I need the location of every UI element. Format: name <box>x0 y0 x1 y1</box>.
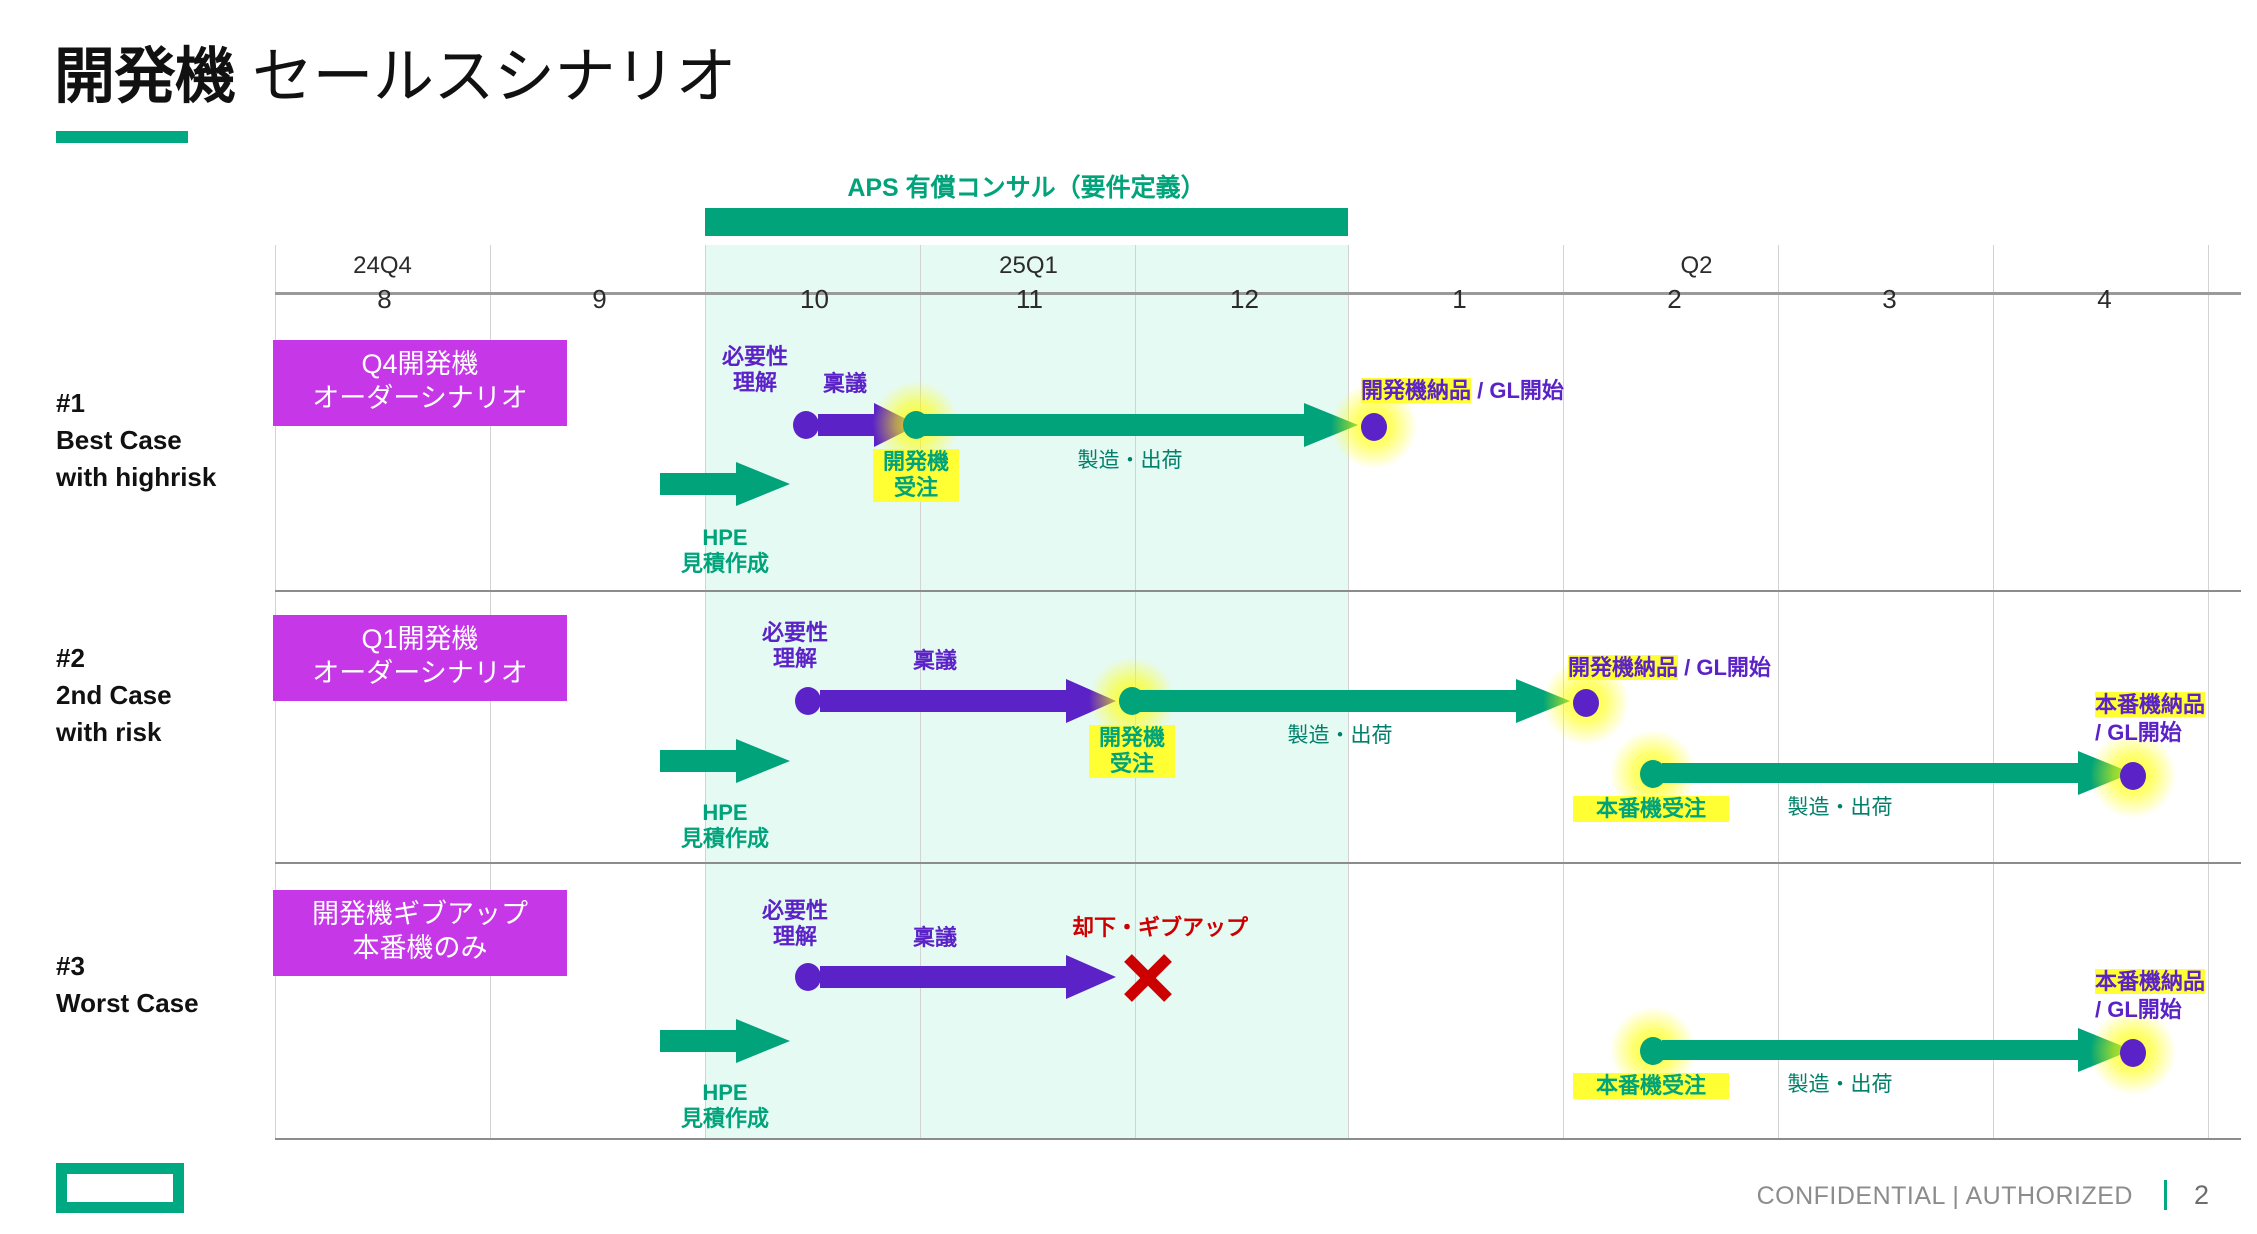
grid-column-line <box>1778 245 1779 1140</box>
quarter-label-q2: Q2 <box>1574 252 1819 280</box>
month-label-1: 1 <box>1337 284 1582 315</box>
row-caption-1: #1 Best Case with highrisk <box>56 385 216 496</box>
row-divider <box>275 862 2241 864</box>
milestone-dot-prod-delivery-2 <box>2120 762 2146 790</box>
label-ringi-3: 稟議 <box>880 925 990 951</box>
page-number: 2 <box>2194 1180 2209 1211</box>
month-label-12: 12 <box>1122 284 1367 315</box>
arrow-manufacture-1 <box>924 414 1358 436</box>
label-delivery-2: 開発機納品 / GL開始 <box>1568 650 1771 682</box>
label-prod-order-3: 本番機受注 <box>1573 1073 1729 1099</box>
label-prod-delivery-2-rest: / GL開始 <box>2095 720 2182 745</box>
label-reject-3: 却下・ギブアップ <box>1040 915 1280 941</box>
milestone-dot-necessity-3 <box>795 963 821 991</box>
reject-x-icon <box>1120 950 1176 1006</box>
label-ringi-2: 稟議 <box>880 648 990 674</box>
milestone-dot-necessity-1 <box>793 411 819 439</box>
label-hpe-quote-2: HPE 見積作成 <box>660 800 790 853</box>
arrow-prod-manufacture-2 <box>1662 763 2132 783</box>
label-manufacture-1: 製造・出荷 <box>1020 448 1240 473</box>
row-caption-3: #3 Worst Case <box>56 948 199 1022</box>
label-delivery-1-highlight: 開発機納品 <box>1361 378 1471 403</box>
confidentiality-notice: CONFIDENTIAL | AUTHORIZED <box>1757 1182 2133 1211</box>
milestone-dot-necessity-2 <box>795 687 821 715</box>
label-prod-manufacture-2: 製造・出荷 <box>1720 795 1960 820</box>
label-order-2: 開発機 受注 <box>1089 725 1175 778</box>
label-hpe-quote-1: HPE 見積作成 <box>660 525 790 578</box>
label-hpe-quote-3: HPE 見積作成 <box>660 1080 790 1133</box>
scenario-chip-2: Q1開発機 オーダーシナリオ <box>273 615 567 701</box>
arrow-hpe-quote-2 <box>660 750 790 772</box>
page-title-rest: セールスシナリオ <box>236 42 736 110</box>
arrow-hpe-quote-3 <box>660 1030 790 1052</box>
hpe-logo <box>56 1163 184 1213</box>
footer-separator <box>2164 1180 2167 1210</box>
arrow-hpe-quote-1 <box>660 473 790 495</box>
arrow-ringi-3 <box>820 966 1116 988</box>
label-delivery-1: 開発機納品 / GL開始 <box>1361 373 1564 405</box>
label-prod-manufacture-3: 製造・出荷 <box>1720 1072 1960 1097</box>
label-manufacture-2: 製造・出荷 <box>1220 723 1460 748</box>
quarter-label-24q4: 24Q4 <box>260 252 505 280</box>
grid-column-line <box>2208 245 2209 1140</box>
arrow-ringi-2 <box>820 690 1116 712</box>
month-label-2: 2 <box>1552 284 1797 315</box>
milestone-dot-prod-delivery-3 <box>2120 1039 2146 1067</box>
label-necessity-2: 必要性 理解 <box>740 620 850 673</box>
row-divider <box>275 590 2241 592</box>
month-label-3: 3 <box>1767 284 2012 315</box>
label-prod-delivery-3: 本番機納品/ GL開始 <box>2095 968 2205 1023</box>
month-label-11: 11 <box>907 284 1152 315</box>
month-label-10: 10 <box>692 284 937 315</box>
month-label-9: 9 <box>477 284 722 315</box>
label-prod-delivery-2-highlight: 本番機納品 <box>2095 692 2205 717</box>
aps-consult-label: APS 有償コンサル（要件定義） <box>705 168 1348 204</box>
scenario-chip-1: Q4開発機 オーダーシナリオ <box>273 340 567 426</box>
row-caption-2: #2 2nd Case with risk <box>56 640 172 751</box>
scenario-chip-3: 開発機ギブアップ 本番機のみ <box>273 890 567 976</box>
label-delivery-2-highlight: 開発機納品 <box>1568 655 1678 680</box>
label-order-1: 開発機 受注 <box>873 449 959 502</box>
aps-consult-band <box>705 208 1348 236</box>
milestone-dot-delivery-2 <box>1573 689 1599 717</box>
grid-column-line <box>1993 245 1994 1140</box>
arrow-prod-manufacture-3 <box>1662 1040 2132 1060</box>
label-prod-order-2: 本番機受注 <box>1573 796 1729 822</box>
label-prod-delivery-3-rest: / GL開始 <box>2095 997 2182 1022</box>
milestone-dot-delivery-1 <box>1361 413 1387 441</box>
page-title-bold: 開発機 <box>54 42 236 110</box>
label-prod-delivery-3-highlight: 本番機納品 <box>2095 969 2205 994</box>
title-underline <box>56 131 188 143</box>
label-delivery-2-rest: / GL開始 <box>1678 655 1771 680</box>
month-label-8: 8 <box>262 284 507 315</box>
month-label-4: 4 <box>1982 284 2227 315</box>
label-delivery-1-rest: / GL開始 <box>1471 378 1564 403</box>
page-title: 開発機 セールスシナリオ <box>54 26 736 115</box>
arrow-manufacture-2 <box>1140 690 1570 712</box>
label-prod-delivery-2: 本番機納品/ GL開始 <box>2095 691 2205 746</box>
row-divider <box>275 1138 2241 1140</box>
label-necessity-3: 必要性 理解 <box>740 898 850 951</box>
quarter-label-25q1: 25Q1 <box>906 252 1151 280</box>
slide-root: 開発機 セールスシナリオ APS 有償コンサル（要件定義） 24Q4 25Q1 … <box>0 0 2257 1234</box>
